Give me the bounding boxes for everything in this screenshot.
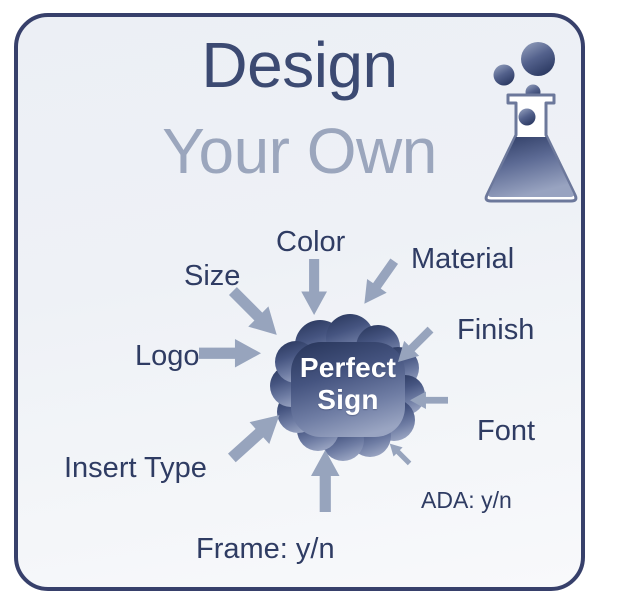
spoke-label-frame: Frame: y/n xyxy=(196,535,335,564)
spoke-label-logo: Logo xyxy=(135,342,200,371)
spoke-label-font: Font xyxy=(477,417,535,446)
spoke-label-color: Color xyxy=(276,228,345,257)
spoke-label-ada: ADA: y/n xyxy=(421,489,512,512)
card-panel: Design Your Own xyxy=(14,13,585,591)
spoke-label-insert-type: Insert Type xyxy=(64,454,207,483)
spoke-label-finish: Finish xyxy=(457,316,534,345)
flask-icon xyxy=(474,29,584,209)
center-cloud-shape xyxy=(258,312,438,467)
spoke-label-size: Size xyxy=(184,262,240,291)
design-your-own-graphic: Design Your Own xyxy=(0,0,617,613)
spoke-label-material: Material xyxy=(411,245,514,274)
